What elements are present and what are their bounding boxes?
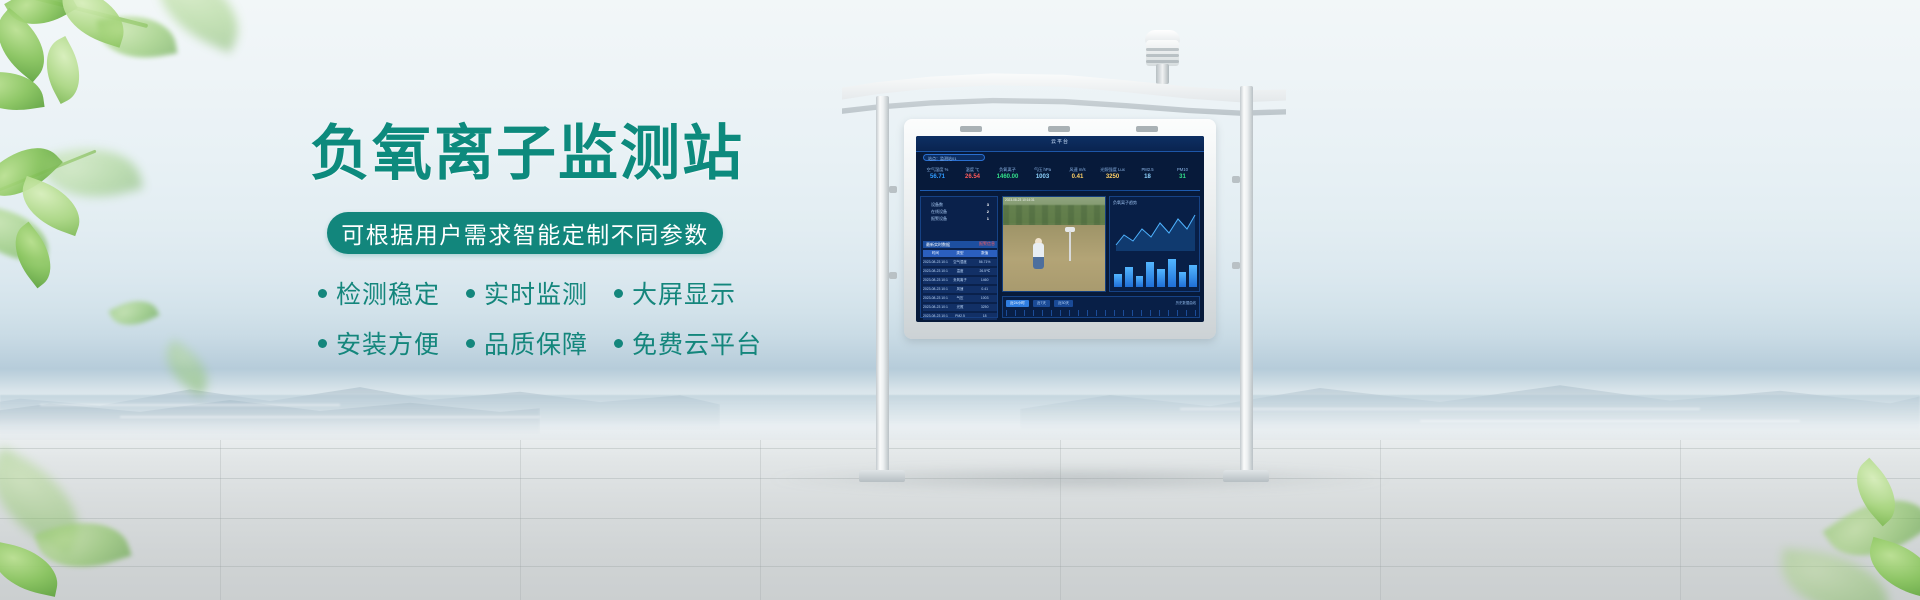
cell-type: PM2.5 xyxy=(948,313,973,320)
right-panel-title: 负氧离子趋势 xyxy=(1113,200,1137,206)
trend-bar-chart xyxy=(1114,255,1197,287)
base-plate-right xyxy=(1223,470,1269,482)
live-camera-feed[interactable]: 2023-08-23 10:14:31 xyxy=(1002,196,1106,292)
bracket xyxy=(889,272,897,279)
cell-time: 2023-08-23 10:14:31 xyxy=(923,286,948,293)
table-header-cell: 类型 xyxy=(948,250,973,257)
paving-line xyxy=(1380,440,1381,600)
kpi-divider xyxy=(920,190,1200,191)
kpi-label: PM10 xyxy=(1165,166,1200,173)
kpi-strip: 空气湿度 % 56.71 温度 ℃ 26.54 负氧离子 1460.00 气压 … xyxy=(920,166,1200,192)
sensor-mast xyxy=(1156,64,1169,84)
bezel-mount xyxy=(1136,126,1158,132)
kpi-value: 26.54 xyxy=(955,173,990,182)
table-header-cell: 时间 xyxy=(923,250,948,257)
video-sensor-pole xyxy=(1069,231,1071,261)
bullet-dot-icon xyxy=(614,289,623,298)
kpi-label: 空气湿度 % xyxy=(920,166,955,173)
subtitle-badge: 可根据用户需求智能定制不同参数 xyxy=(327,212,723,254)
feature-list: 检测稳定 实时监测 大屏显示 安装方便 品质保障 xyxy=(318,275,738,375)
sensor-ring xyxy=(1146,60,1179,63)
cell-type: 空气湿度 xyxy=(948,259,973,266)
table-row: 2023-08-23 10:14:31 温度 26.5℃ xyxy=(923,268,997,275)
feature-label: 实时监测 xyxy=(484,275,588,311)
kpi-label: 气压 hPa xyxy=(1025,166,1060,173)
feature-label: 检测稳定 xyxy=(336,275,440,311)
bezel-mount xyxy=(960,126,982,132)
water-highlight xyxy=(1420,420,1800,422)
kpi-card: 风速 m/s 0.41 xyxy=(1060,166,1095,192)
device-counters: 设备数 3 在线设备 2 报警设备 1 xyxy=(927,201,993,217)
cell-value: 26.5℃ xyxy=(972,268,997,275)
tab-24h[interactable]: 近24小时 xyxy=(1006,300,1029,307)
feature-item: 品质保障 xyxy=(466,325,588,361)
counter-row: 设备数 3 xyxy=(927,201,993,208)
time-range-tabs[interactable]: 近24小时 近7天 近30天 xyxy=(1006,300,1073,307)
kpi-card: 光照强度 Lux 3250 xyxy=(1095,166,1130,192)
promo-copy: 负氧离子监测站 可根据用户需求智能定制不同参数 检测稳定 实时监测 大屏显示 xyxy=(0,0,760,600)
video-person-body xyxy=(1033,243,1044,269)
bullet-dot-icon xyxy=(466,339,475,348)
counter-value: 2 xyxy=(987,208,989,215)
feature-item: 安装方便 xyxy=(318,325,440,361)
cell-time: 2023-08-23 10:14:31 xyxy=(923,268,948,275)
video-treeline xyxy=(1003,205,1106,227)
table-header-cell: 数值 xyxy=(972,250,997,257)
feature-row: 检测稳定 实时监测 大屏显示 xyxy=(318,275,738,311)
feature-label: 安装方便 xyxy=(336,325,440,361)
kpi-card: PM10 31 xyxy=(1165,166,1200,192)
cell-value: 0.41 xyxy=(972,286,997,293)
cell-time: 2023-08-23 10:14:31 xyxy=(923,259,948,266)
cell-time: 2023-08-23 10:14:31 xyxy=(923,295,948,302)
paving-line xyxy=(1680,440,1681,600)
bullet-dot-icon xyxy=(466,289,475,298)
tab-7d[interactable]: 近7天 xyxy=(1033,300,1050,307)
video-timestamp: 2023-08-23 10:14:31 xyxy=(1005,198,1035,202)
counter-label: 设备数 xyxy=(931,201,943,208)
kpi-label: PM2.5 xyxy=(1130,166,1165,173)
cell-time: 2023-08-23 10:14:31 xyxy=(923,313,948,320)
support-post-right xyxy=(1240,86,1253,478)
kpi-label: 光照强度 Lux xyxy=(1095,166,1130,173)
cell-value: 1460 xyxy=(972,277,997,284)
cell-value: 18 xyxy=(972,313,997,320)
trend-line-svg xyxy=(1114,211,1197,251)
kpi-card: PM2.5 18 xyxy=(1130,166,1165,192)
table-row: 2023-08-23 10:14:31 气压 1003 xyxy=(923,295,997,302)
page-title: 负氧离子监测站 xyxy=(310,122,740,186)
bullet-dot-icon xyxy=(318,339,327,348)
station-selector[interactable]: 站点：监测站01 xyxy=(923,154,985,161)
table-row: 2023-08-23 10:14:31 负氧离子 1460 xyxy=(923,277,997,284)
feature-label: 大屏显示 xyxy=(632,275,736,311)
table-row: 2023-08-23 10:14:31 风速 0.41 xyxy=(923,286,997,293)
kpi-label: 温度 ℃ xyxy=(955,166,990,173)
table-row: 2023-08-23 10:14:31 光照 3250 xyxy=(923,304,997,311)
trend-line-chart xyxy=(1114,211,1197,251)
feature-label: 品质保障 xyxy=(484,325,588,361)
bracket xyxy=(1232,262,1240,269)
kpi-label: 风速 m/s xyxy=(1060,166,1095,173)
feature-item: 免费云平台 xyxy=(614,325,762,361)
feature-row: 安装方便 品质保障 免费云平台 xyxy=(318,325,738,361)
cell-type: 温度 xyxy=(948,268,973,275)
counter-label: 在线设备 xyxy=(931,208,947,215)
kpi-card: 温度 ℃ 26.54 xyxy=(955,166,990,192)
counter-value: 3 xyxy=(987,201,989,208)
cell-value: 3250 xyxy=(972,304,997,311)
cell-time: 2023-08-23 10:14:31 xyxy=(923,304,948,311)
kpi-label: 负氧离子 xyxy=(990,166,1025,173)
kpi-value: 0.41 xyxy=(1060,173,1095,182)
cell-type: 风速 xyxy=(948,286,973,293)
timeline-ticks xyxy=(1006,310,1196,316)
cell-type: 气压 xyxy=(948,295,973,302)
table-row: 2023-08-23 10:14:31 PM2.5 18 xyxy=(923,313,997,320)
bottom-legend: 历史数据曲线 xyxy=(1176,300,1196,305)
bezel-mount xyxy=(1048,126,1070,132)
cell-time: 2023-08-23 10:14:31 xyxy=(923,277,948,284)
cell-value: 56.71% xyxy=(972,259,997,266)
feature-item: 大屏显示 xyxy=(614,275,736,311)
counter-value: 1 xyxy=(987,215,989,222)
kpi-card: 空气湿度 % 56.71 xyxy=(920,166,955,192)
screen-left-panel: 设备数 3 在线设备 2 报警设备 1 最新实时数据 报警信息 时间 xyxy=(920,196,998,318)
table-row: 2023-08-23 10:14:31 空气湿度 56.71% xyxy=(923,259,997,266)
promo-banner: 负氧离子监测站 可根据用户需求智能定制不同参数 检测稳定 实时监测 大屏显示 xyxy=(0,0,1920,600)
screen-bottom-panel: 近24小时 近7天 近30天 历史数据曲线 xyxy=(1002,296,1200,318)
kpi-value: 3250 xyxy=(1095,173,1130,182)
kpi-value: 1003 xyxy=(1025,173,1060,182)
kpi-value: 1460.00 xyxy=(990,173,1025,182)
led-display-screen[interactable]: 云平台 站点：监测站01 空气湿度 % 56.71 温度 ℃ 26.54 负氧离… xyxy=(916,136,1204,322)
feature-item: 实时监测 xyxy=(466,275,588,311)
sensor-ring xyxy=(1146,48,1179,51)
counter-row: 在线设备 2 xyxy=(927,208,993,215)
counter-label: 报警设备 xyxy=(931,215,947,222)
screen-title: 云平台 xyxy=(916,138,1204,145)
table-header-row: 时间 类型 数值 xyxy=(923,250,997,257)
screen-right-panel: 负氧离子趋势 xyxy=(1109,196,1200,292)
sensor-ring xyxy=(1146,54,1179,57)
support-post-left xyxy=(876,96,889,478)
kpi-value: 56.71 xyxy=(920,173,955,182)
bracket xyxy=(1232,176,1240,183)
counter-row: 报警设备 1 xyxy=(927,215,993,222)
kpi-value: 18 xyxy=(1130,173,1165,182)
feature-label: 免费云平台 xyxy=(632,325,762,361)
bullet-dot-icon xyxy=(318,289,327,298)
bracket xyxy=(889,186,897,193)
monitoring-station-device: 云平台 站点：监测站01 空气湿度 % 56.71 温度 ℃ 26.54 负氧离… xyxy=(820,0,1320,600)
kpi-card: 负氧离子 1460.00 xyxy=(990,166,1025,192)
video-ground xyxy=(1003,225,1106,292)
cell-type: 光照 xyxy=(948,304,973,311)
bullet-dot-icon xyxy=(614,339,623,348)
feature-item: 检测稳定 xyxy=(318,275,440,311)
paving-line xyxy=(760,440,761,600)
base-plate-left xyxy=(859,470,905,482)
kpi-card: 气压 hPa 1003 xyxy=(1025,166,1060,192)
tab-30d[interactable]: 近30天 xyxy=(1054,300,1073,307)
cell-value: 1003 xyxy=(972,295,997,302)
alert-label: 报警信息 xyxy=(979,241,995,247)
cell-type: 负氧离子 xyxy=(948,277,973,284)
kpi-value: 31 xyxy=(1165,173,1200,182)
station-selector-label: 站点：监测站01 xyxy=(928,156,956,162)
